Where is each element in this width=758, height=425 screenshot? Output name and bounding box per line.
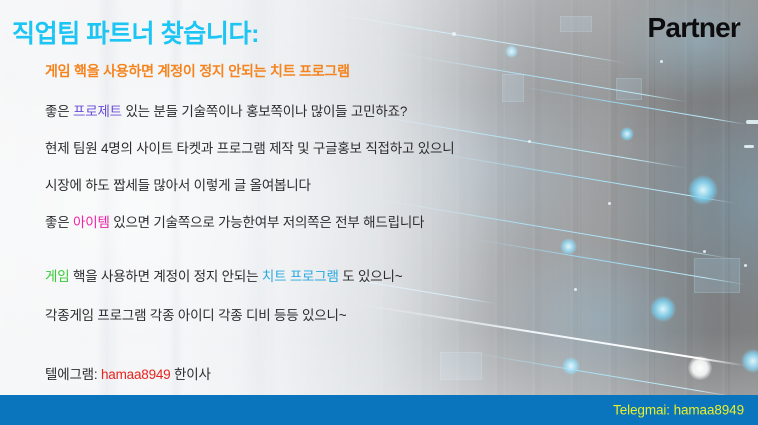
body-line-3: 시장에 하도 짭세들 많아서 이렇게 글 올여봅니다 [45, 174, 311, 194]
body-line-4-part-c: 있으면 기술쪽으로 가능한여부 저의쪽은 전부 해드립니다 [110, 215, 425, 230]
footer-bar: Telegmai: hamaa8949 [0, 395, 758, 425]
body-line-5-part-b: 핵을 사용하면 계정이 정지 안되는 [69, 269, 261, 284]
body-line-5: 게임 핵을 사용하면 계정이 정지 안되는 치트 프로그램 도 있으니~ [45, 265, 402, 285]
body-line-1: 좋은 프로제트 있는 분들 기술쪽이나 홍보쪽이나 많이들 고민하죠? [45, 100, 407, 120]
slide-content: 직업팀 파트너 찾습니다: Partner 게임 핵을 사용하면 계정이 정지 … [0, 0, 758, 425]
keyword-cheat-program: 치트 프로그램 [262, 269, 339, 284]
body-line-6-text: 각종게임 프로그램 각종 아이디 각종 디비 등등 있으니~ [45, 308, 346, 323]
keyword-project: 프로제트 [73, 104, 122, 119]
contact-person-title: 한이사 [171, 367, 211, 382]
brand-logo-partner: Partner [648, 12, 740, 44]
keyword-item: 아이템 [73, 215, 110, 230]
body-line-6: 각종게임 프로그램 각종 아이디 각종 디비 등등 있으니~ [45, 304, 346, 324]
contact-label: 텔에그램: [45, 367, 101, 382]
footer-telegram-contact[interactable]: Telegmai: hamaa8949 [613, 403, 744, 418]
body-line-2-text: 현제 팀원 4명의 사이트 타켓과 프로그램 제작 및 구글홍보 직접하고 있으… [45, 141, 454, 156]
contact-line: 텔에그램: hamaa8949 한이사 [45, 363, 211, 383]
body-line-4-part-a: 좋은 [45, 215, 73, 230]
body-line-3-text: 시장에 하도 짭세들 많아서 이렇게 글 올여봅니다 [45, 178, 311, 193]
keyword-game: 게임 [45, 269, 69, 284]
contact-telegram-handle[interactable]: hamaa8949 [101, 367, 171, 382]
headline-banner: 게임 핵을 사용하면 계정이 정지 안되는 치트 프로그램 [45, 61, 350, 81]
body-line-4: 좋은 아이템 있으면 기술쪽으로 가능한여부 저의쪽은 전부 해드립니다 [45, 211, 424, 231]
body-line-1-part-c: 있는 분들 기술쪽이나 홍보쪽이나 많이들 고민하죠? [122, 104, 407, 119]
promo-slide: 직업팀 파트너 찾습니다: Partner 게임 핵을 사용하면 계정이 정지 … [0, 0, 758, 425]
body-line-5-part-d: 도 있으니~ [339, 269, 403, 284]
body-line-1-part-a: 좋은 [45, 104, 73, 119]
body-line-2: 현제 팀원 4명의 사이트 타켓과 프로그램 제작 및 구글홍보 직접하고 있으… [45, 137, 454, 157]
page-title: 직업팀 파트너 찾습니다: [12, 14, 259, 50]
